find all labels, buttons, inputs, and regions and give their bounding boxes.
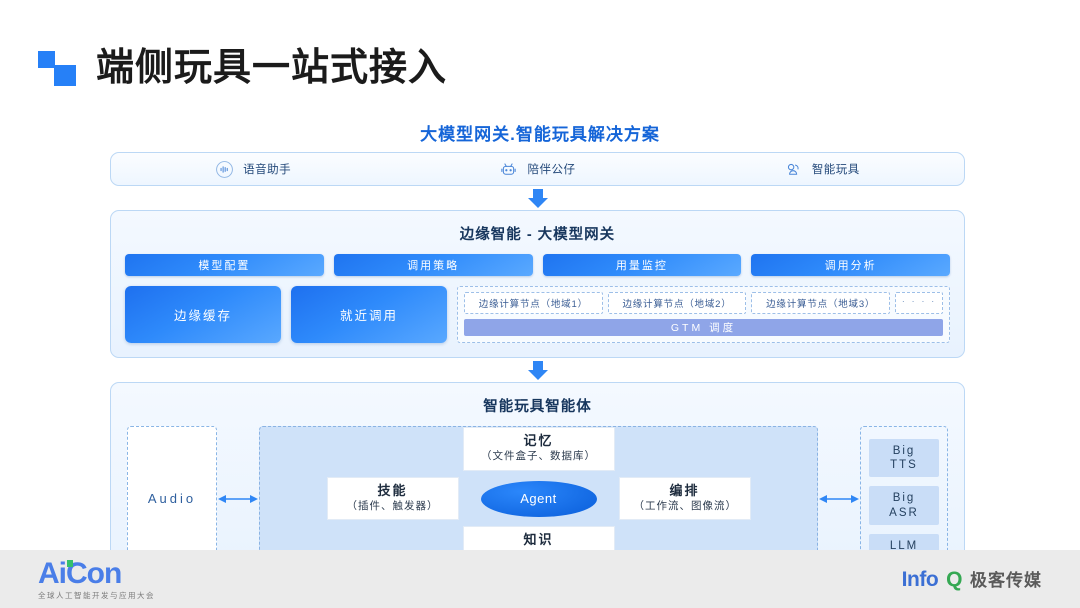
footer-bar: AiCon 全球人工智能开发与应用大会 Info Q 极客传媒 xyxy=(0,550,1080,608)
gateway-feature-buttons: 模型配置 调用策略 用量监控 调用分析 xyxy=(125,254,950,276)
persona-companion-doll[interactable]: 陪伴公仔 xyxy=(395,160,679,179)
card-subtitle: （工作流、图像流） xyxy=(634,500,736,514)
agent-card-orchestration: 编排 （工作流、图像流） xyxy=(619,477,751,521)
edge-node-region-1[interactable]: 边缘计算节点（地域1） xyxy=(464,292,603,314)
gtm-scheduler-bar: GTM 调度 xyxy=(464,319,943,336)
edge-nodes-group: 边缘计算节点（地域1） 边缘计算节点（地域2） 边缘计算节点（地域3） · · … xyxy=(457,286,950,343)
button-model-config[interactable]: 模型配置 xyxy=(125,254,324,276)
infoq-q-text: Q xyxy=(946,568,962,592)
button-call-policy[interactable]: 调用策略 xyxy=(334,254,533,276)
robot-icon xyxy=(499,160,518,179)
persona-label: 语音助手 xyxy=(243,161,291,177)
card-subtitle: （文件盒子、数据库） xyxy=(478,450,600,464)
button-call-analysis[interactable]: 调用分析 xyxy=(751,254,950,276)
gateway-second-row: 边缘缓存 就近调用 边缘计算节点（地域1） 边缘计算节点（地域2） 边缘计算节点… xyxy=(125,286,950,343)
infoq-cn-text: 极客传媒 xyxy=(970,566,1042,591)
voice-wave-icon xyxy=(215,160,234,179)
title-square-icon xyxy=(38,51,80,85)
gateway-title: 边缘智能 - 大模型网关 xyxy=(125,223,950,244)
persona-bar: 语音助手 陪伴公仔 智能玩具 xyxy=(110,152,965,186)
diagram-subtitle: 大模型网关.智能玩具解决方案 xyxy=(0,120,1080,145)
card-subtitle: （插件、触发器） xyxy=(342,500,444,514)
aicon-tagline: 全球人工智能开发与应用大会 xyxy=(38,592,155,600)
edge-node-region-3[interactable]: 边缘计算节点（地域3） xyxy=(751,292,890,314)
aicon-green-dot xyxy=(67,560,73,567)
agent-title: 智能玩具智能体 xyxy=(127,395,948,416)
model-big-asr[interactable]: Big ASR xyxy=(869,486,939,525)
aicon-wordmark: AiCon xyxy=(38,559,121,589)
page-title: 端侧玩具一站式接入 xyxy=(96,49,447,87)
gateway-panel: 边缘智能 - 大模型网关 模型配置 调用策略 用量监控 调用分析 边缘缓存 就近… xyxy=(110,210,965,358)
flow-arrow-down-1 xyxy=(110,186,965,210)
persona-label: 智能玩具 xyxy=(812,161,860,177)
persona-voice-assistant[interactable]: 语音助手 xyxy=(111,160,395,179)
agent-core-ellipse[interactable]: Agent xyxy=(481,481,597,517)
agent-card-memory: 记忆 （文件盒子、数据库） xyxy=(463,427,615,471)
model-line-2: ASR xyxy=(889,507,919,519)
button-edge-cache[interactable]: 边缘缓存 xyxy=(125,286,281,343)
model-line-1: Big xyxy=(893,492,916,504)
button-nearby-invoke[interactable]: 就近调用 xyxy=(291,286,447,343)
edge-node-region-2[interactable]: 边缘计算节点（地域2） xyxy=(608,292,747,314)
button-usage-monitor[interactable]: 用量监控 xyxy=(543,254,742,276)
agent-card-memory-wrap: 记忆 （文件盒子、数据库） xyxy=(270,427,807,471)
edge-nodes-list: 边缘计算节点（地域1） 边缘计算节点（地域2） 边缘计算节点（地域3） · · … xyxy=(464,292,943,314)
persona-smart-toy[interactable]: 智能玩具 xyxy=(680,160,964,179)
aicon-logo: AiCon 全球人工智能开发与应用大会 xyxy=(38,559,155,600)
model-big-tts[interactable]: Big TTS xyxy=(869,439,939,478)
card-title: 记忆 xyxy=(478,433,600,449)
model-line-2: TTS xyxy=(890,459,918,471)
model-line-1: Big xyxy=(893,445,916,457)
card-title: 知识 xyxy=(478,532,600,548)
infoq-info-text: Info xyxy=(902,568,938,592)
toy-icon xyxy=(784,160,803,179)
persona-label: 陪伴公仔 xyxy=(527,161,575,177)
infoq-logo: Info Q 极客传媒 xyxy=(902,566,1042,592)
edge-node-more: · · · · xyxy=(895,292,943,314)
page-title-row: 端侧玩具一站式接入 xyxy=(38,42,447,94)
solution-diagram: 语音助手 陪伴公仔 智能玩具 xyxy=(110,152,965,588)
agent-core-middle-row: 技能 （插件、触发器） Agent 编排 （工作流、图像流） xyxy=(270,477,807,521)
agent-card-skills: 技能 （插件、触发器） xyxy=(327,477,459,521)
aicon-name: AiCon xyxy=(38,557,121,590)
card-title: 编排 xyxy=(634,483,736,499)
flow-arrow-down-2 xyxy=(110,358,965,382)
card-title: 技能 xyxy=(342,483,444,499)
